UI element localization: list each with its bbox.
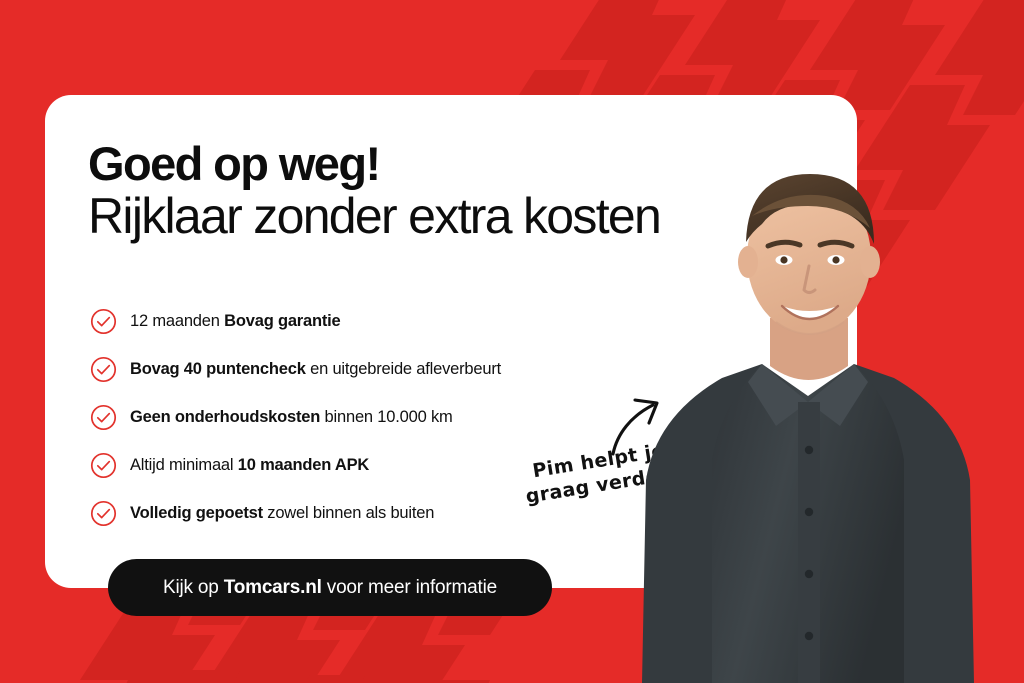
feature-label: Bovag 40 puntencheck en uitgebreide afle… (130, 360, 501, 379)
feature-label: 12 maanden Bovag garantie (130, 312, 341, 331)
feature-post: zowel binnen als buiten (263, 504, 434, 522)
check-circle-icon (90, 452, 117, 479)
handwritten-note: Pim helpt je graag verder! (525, 392, 695, 517)
feature-post: binnen 10.000 km (320, 408, 452, 426)
cta-pre: Kijk op (163, 577, 224, 598)
feature-label: Geen onderhoudskosten binnen 10.000 km (130, 408, 453, 427)
cta-button[interactable]: Kijk op Tomcars.nl voor meer informatie (108, 559, 552, 616)
headline-primary: Goed op weg! (88, 140, 788, 188)
headline-secondary: Rijklaar zonder extra kosten (88, 188, 788, 244)
cta-brand: Tomcars.nl (224, 577, 322, 598)
feature-pre: 12 maanden (130, 312, 224, 330)
headline-block: Goed op weg! Rijklaar zonder extra koste… (88, 140, 788, 244)
feature-label: Volledig gepoetst zowel binnen als buite… (130, 504, 434, 523)
feature-bold: Bovag 40 puntencheck (130, 360, 306, 378)
feature-bold: Bovag garantie (224, 312, 340, 330)
check-circle-icon (90, 308, 117, 335)
feature-post: en uitgebreide afleverbeurt (306, 360, 501, 378)
cta-label: Kijk op Tomcars.nl voor meer informatie (163, 577, 497, 599)
feature-pre: Altijd minimaal (130, 456, 238, 474)
check-circle-icon (90, 500, 117, 527)
feature-label: Altijd minimaal 10 maanden APK (130, 456, 369, 475)
feature-item: 12 maanden Bovag garantie (90, 297, 650, 345)
cta-post: voor meer informatie (322, 577, 497, 598)
feature-bold: Geen onderhoudskosten (130, 408, 320, 426)
check-circle-icon (90, 356, 117, 383)
feature-bold: Volledig gepoetst (130, 504, 263, 522)
feature-item: Bovag 40 puntencheck en uitgebreide afle… (90, 345, 650, 393)
feature-bold: 10 maanden APK (238, 456, 369, 474)
check-circle-icon (90, 404, 117, 431)
promo-banner: Goed op weg! Rijklaar zonder extra koste… (0, 0, 1024, 683)
